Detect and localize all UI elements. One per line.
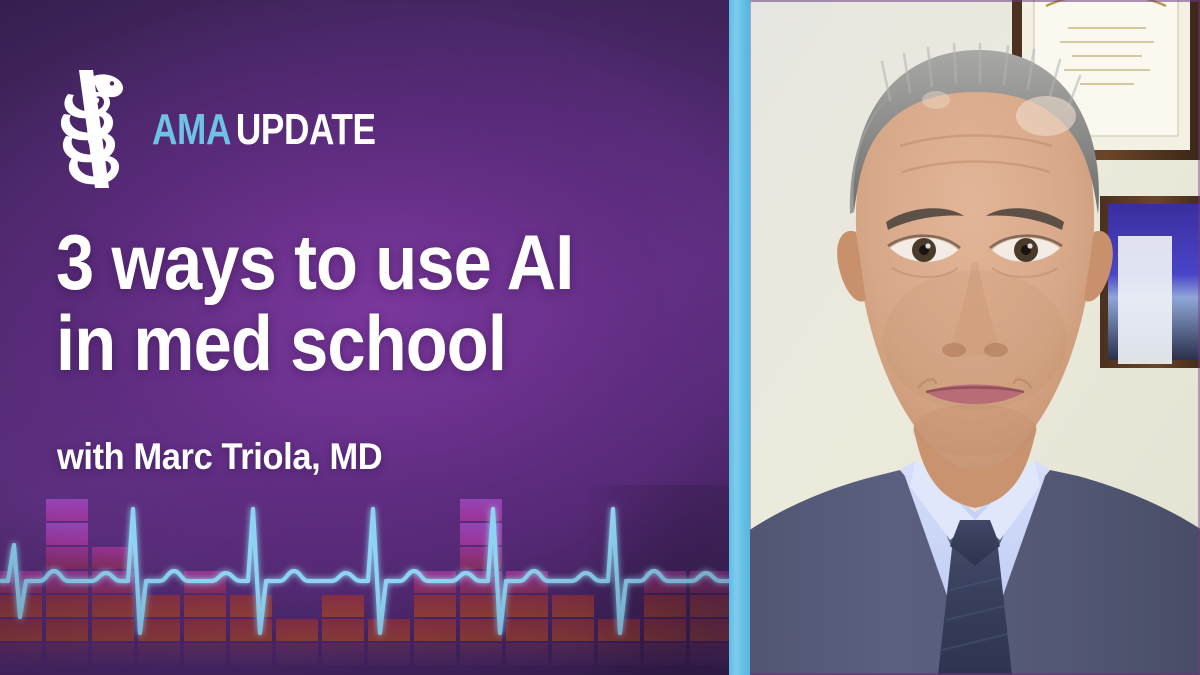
brand-ama-text: AMA [152, 108, 231, 152]
brand-update-text: UPDATE [236, 108, 376, 152]
rod-of-asclepius-icon [52, 68, 128, 192]
brand-lockup: AMA UPDATE [52, 68, 432, 192]
page-subtitle: with Marc Triola, MD [57, 437, 382, 478]
accent-divider [729, 0, 750, 675]
title-panel: AMA UPDATE 3 ways to use AI in med schoo… [0, 0, 729, 675]
video-thumbnail: AMA UPDATE 3 ways to use AI in med schoo… [0, 0, 1200, 675]
ecg-equalizer-graphic [0, 485, 729, 675]
title-line-1: 3 ways to use AI [56, 222, 637, 303]
speaker-video-frame [750, 0, 1200, 675]
brand-wordmark: AMA UPDATE [152, 108, 376, 152]
title-line-2: in med school [56, 303, 637, 384]
page-title: 3 ways to use AI in med school [56, 222, 637, 384]
framed-picture [1100, 196, 1200, 368]
